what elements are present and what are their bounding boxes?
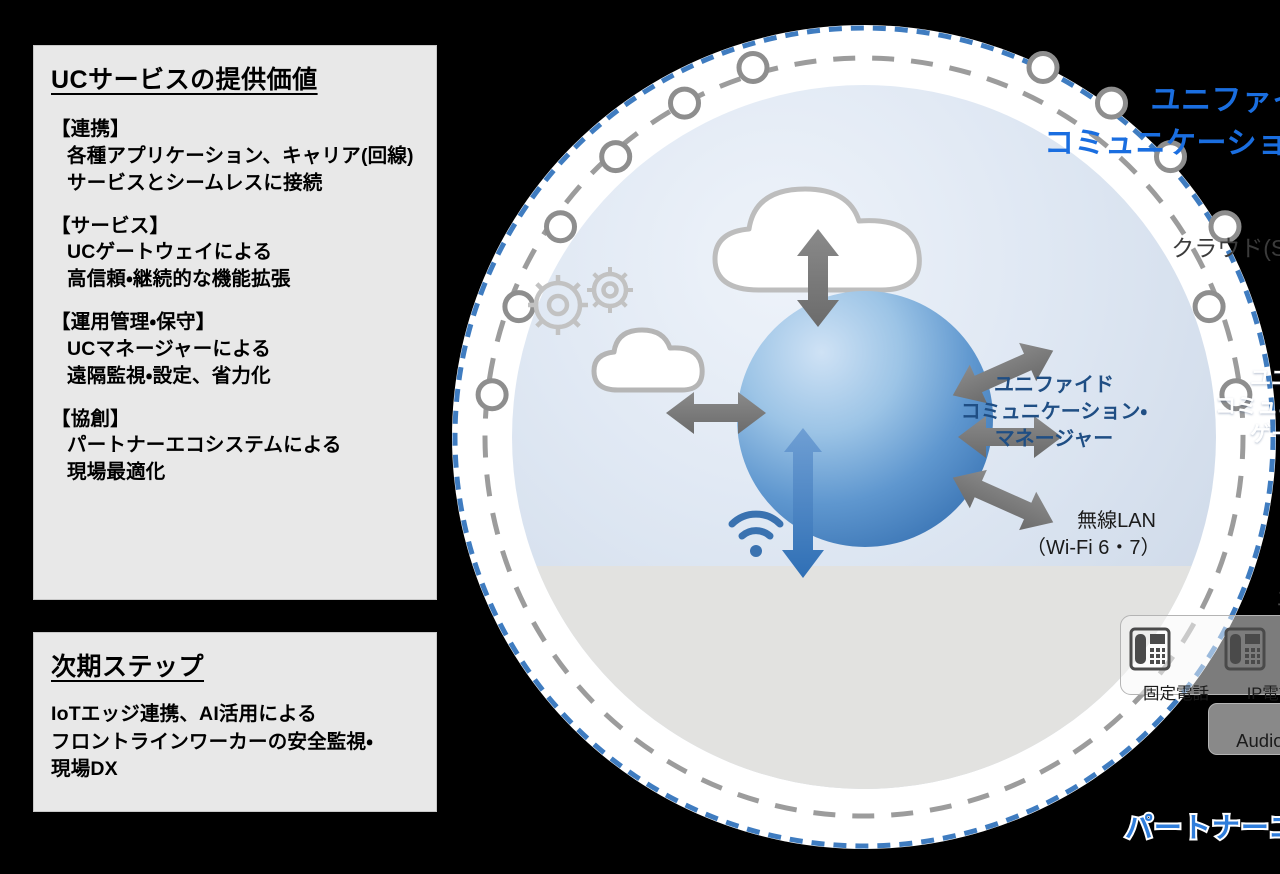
manager-label: ユニファイド コミュニケーション・ マネージャー — [944, 372, 1164, 453]
uc-service-diagram: ユニファイド コミュニケーションサービス クラウド(SaaS) アプリケーション… — [448, 0, 1280, 874]
section-heading: 【運用管理・保守】 — [51, 310, 436, 336]
manager-label-line3: マネージャー — [944, 426, 1164, 453]
section-line: パートナーエコシステムによる — [51, 432, 436, 459]
manager-label-line2: コミュニケーション・ — [944, 399, 1164, 426]
gateway-label: ユニファイド コミュニケーション・ ゲートウェイ — [1193, 365, 1280, 449]
manager-label-line1: ユニファイド — [944, 372, 1164, 399]
desk-phone-glyph — [1129, 625, 1171, 671]
next-step-line: 現場DX — [51, 756, 436, 784]
partner-node — [602, 143, 630, 171]
section-heading: 【協創】 — [51, 407, 436, 433]
section-heading: 【サービス】 — [51, 214, 436, 240]
partner-ecosystem-label: パートナーエコシステム — [1084, 806, 1280, 846]
device-desk-phone: 固定電話 — [1129, 625, 1223, 704]
next-step-title: 次期ステップ — [34, 633, 436, 683]
device-caption: IP電話 — [1224, 680, 1280, 704]
value-section-renkei: 【連携】 各種アプリケーション、キャリア(回線) サービスとシームレスに接続 — [51, 117, 436, 197]
value-panel-body: 【連携】 各種アプリケーション、キャリア(回線) サービスとシームレスに接続 【… — [34, 96, 436, 486]
value-proposition-panel: UCサービスの提供価値 【連携】 各種アプリケーション、キャリア(回線) サービ… — [33, 45, 437, 600]
partner-node — [1029, 54, 1057, 82]
section-line: 各種アプリケーション、キャリア(回線) — [51, 143, 436, 170]
partner-node — [547, 213, 575, 241]
desk-phone-icon — [1129, 625, 1223, 679]
next-step-line: フロントラインワーカーの安全監視・ — [51, 729, 436, 757]
edge-label: エッジ — [1248, 583, 1280, 613]
ai-analysis-box: AI分析 Audio＋Video DX — [1208, 703, 1280, 755]
next-step-line: IoTエッジ連携、AI活用による — [51, 701, 436, 729]
section-line: 現場最適化 — [51, 459, 436, 486]
cloud-saas-label: クラウド(SaaS) — [1148, 229, 1280, 263]
diagram-title: ユニファイド コミュニケーションサービス — [1032, 80, 1280, 165]
wireless-lan-line1: 無線LAN — [1026, 508, 1156, 535]
wireless-lan-label: 無線LAN （Wi-Fi 6・7） — [1026, 508, 1156, 562]
device-caption: 固定電話 — [1129, 680, 1223, 704]
ip-phone-icon — [1224, 625, 1280, 679]
gateway-label-line2: コミュニケーション・ — [1193, 393, 1280, 421]
value-panel-title: UCサービスの提供価値 — [34, 46, 436, 96]
gateway-label-line3: ゲートウェイ — [1193, 421, 1280, 449]
device-ip-phone: IP電話 — [1224, 625, 1280, 704]
section-line: 高信頼・継続的な機能拡張 — [51, 266, 436, 293]
diagram-title-line1: ユニファイド — [1032, 80, 1280, 123]
section-line: UCゲートウェイによる — [51, 239, 436, 266]
partner-node — [1195, 293, 1223, 321]
partner-node — [478, 381, 506, 409]
ai-analysis-line2: Audio＋Video DX — [1236, 729, 1280, 753]
partner-node — [739, 54, 767, 82]
section-heading: 【連携】 — [51, 117, 436, 143]
value-section-cocreation: 【協創】 パートナーエコシステムによる 現場最適化 — [51, 407, 436, 487]
value-section-service: 【サービス】 UCゲートウェイによる 高信頼・継続的な機能拡張 — [51, 214, 436, 294]
wireless-lan-line2: （Wi-Fi 6・7） — [1026, 535, 1156, 562]
value-section-operations: 【運用管理・保守】 UCマネージャーによる 遠隔監視・設定、省力化 — [51, 310, 436, 390]
section-line: UCマネージャーによる — [51, 336, 436, 363]
diagram-title-line2: コミュニケーションサービス — [1032, 123, 1280, 166]
partner-node — [671, 89, 699, 117]
ip-phone-glyph — [1224, 625, 1266, 671]
edge-device-box: 固定電話 IP電話 — [1120, 615, 1280, 695]
section-line: サービスとシームレスに接続 — [51, 170, 436, 197]
section-line: 遠隔監視・設定、省力化 — [51, 363, 436, 390]
gateway-label-line1: ユニファイド — [1193, 365, 1280, 393]
next-step-body: IoTエッジ連携、AI活用による フロントラインワーカーの安全監視・ 現場DX — [34, 683, 436, 784]
next-step-panel: 次期ステップ IoTエッジ連携、AI活用による フロントラインワーカーの安全監視… — [33, 632, 437, 812]
